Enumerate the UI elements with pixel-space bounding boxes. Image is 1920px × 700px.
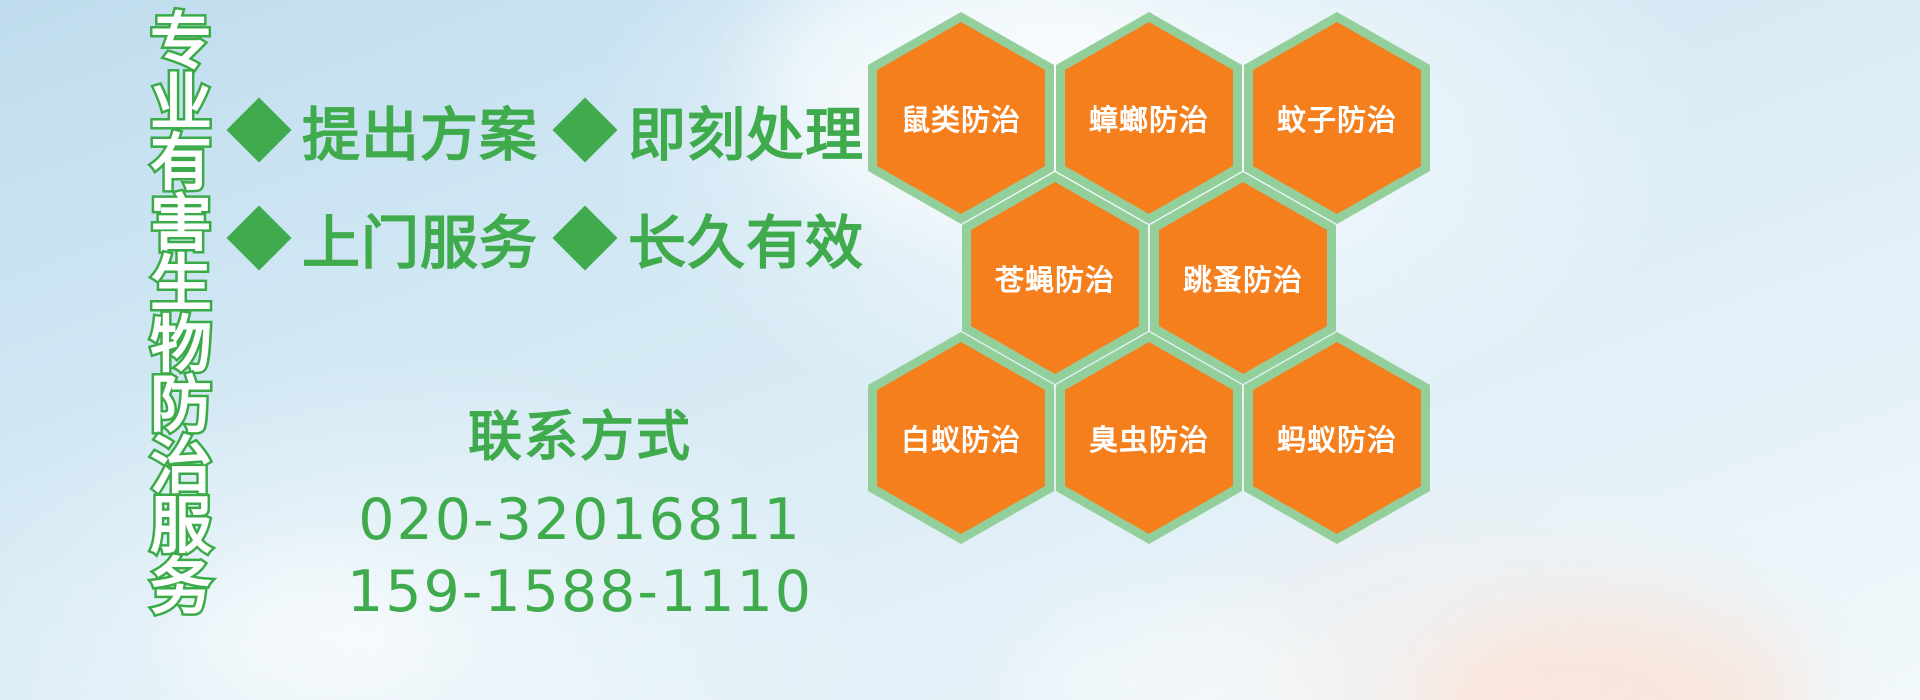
service-hex-label: 鼠类防治 xyxy=(901,97,1021,139)
hex-inner: 臭虫防治 xyxy=(1065,342,1233,534)
vertical-headline-char-5: 生 xyxy=(150,254,212,314)
service-hex-label: 白蚁防治 xyxy=(901,417,1021,459)
vertical-headline-char-2: 业 xyxy=(150,73,212,133)
pest-control-service-banner: 专 业 有 害 生 物 防 治 服 务 提出方案 即刻处理 上门服务 长久有效 xyxy=(0,0,1920,700)
feature-row-2: 上门服务 长久有效 xyxy=(236,196,864,280)
feature-label: 提出方案 xyxy=(302,88,538,172)
feature-label: 长久有效 xyxy=(628,196,864,280)
diamond-icon xyxy=(552,205,617,270)
service-hex-label: 蚊子防治 xyxy=(1277,97,1397,139)
contact-phone-landline[interactable]: 020-32016811 xyxy=(300,485,860,557)
diamond-icon xyxy=(552,97,617,162)
diamond-icon xyxy=(226,97,291,162)
service-hex-label: 跳蚤防治 xyxy=(1183,257,1303,299)
feature-row-1: 提出方案 即刻处理 xyxy=(236,88,864,172)
hex-inner: 白蚁防治 xyxy=(877,342,1045,534)
vertical-headline-char-6: 物 xyxy=(150,315,212,375)
vertical-headline-char-9: 服 xyxy=(150,496,212,556)
vertical-headline-char-10: 务 xyxy=(150,557,212,617)
feature-item-immediate-handling: 即刻处理 xyxy=(562,88,864,172)
hex-inner: 蟑螂防治 xyxy=(1065,22,1233,214)
vertical-headline-char-8: 治 xyxy=(150,436,212,496)
service-hex-label: 蚂蚁防治 xyxy=(1277,417,1397,459)
hex-inner: 鼠类防治 xyxy=(877,22,1045,214)
feature-item-onsite-service: 上门服务 xyxy=(236,196,562,280)
feature-item-propose-plan: 提出方案 xyxy=(236,88,562,172)
hex-inner: 跳蚤防治 xyxy=(1159,182,1327,374)
service-hex-label: 蟑螂防治 xyxy=(1089,97,1209,139)
vertical-headline: 专 业 有 害 生 物 防 治 服 务 xyxy=(138,12,224,617)
feature-item-long-lasting: 长久有效 xyxy=(562,196,864,280)
feature-label: 上门服务 xyxy=(302,196,538,280)
service-hex-label: 苍蝇防治 xyxy=(995,257,1115,299)
contact-heading: 联系方式 xyxy=(300,392,860,471)
hex-inner: 蚊子防治 xyxy=(1253,22,1421,214)
vertical-headline-char-1: 专 xyxy=(150,12,212,72)
feature-label: 即刻处理 xyxy=(628,88,864,172)
vertical-headline-char-3: 有 xyxy=(150,133,212,193)
hex-inner: 苍蝇防治 xyxy=(971,182,1139,374)
contact-phone-mobile[interactable]: 159-1588-1110 xyxy=(300,557,860,629)
service-hex-label: 臭虫防治 xyxy=(1089,417,1209,459)
contact-block: 联系方式 020-32016811 159-1588-1110 xyxy=(300,392,860,629)
background-blob-right xyxy=(1430,610,1810,700)
hex-inner: 蚂蚁防治 xyxy=(1253,342,1421,534)
service-hexagon-grid: 鼠类防治 蟑螂防治 蚊子防治 苍蝇防治 跳蚤防治 白蚁防 xyxy=(860,0,1460,660)
diamond-icon xyxy=(226,205,291,270)
vertical-headline-char-7: 防 xyxy=(150,375,212,435)
vertical-headline-char-4: 害 xyxy=(150,194,212,254)
